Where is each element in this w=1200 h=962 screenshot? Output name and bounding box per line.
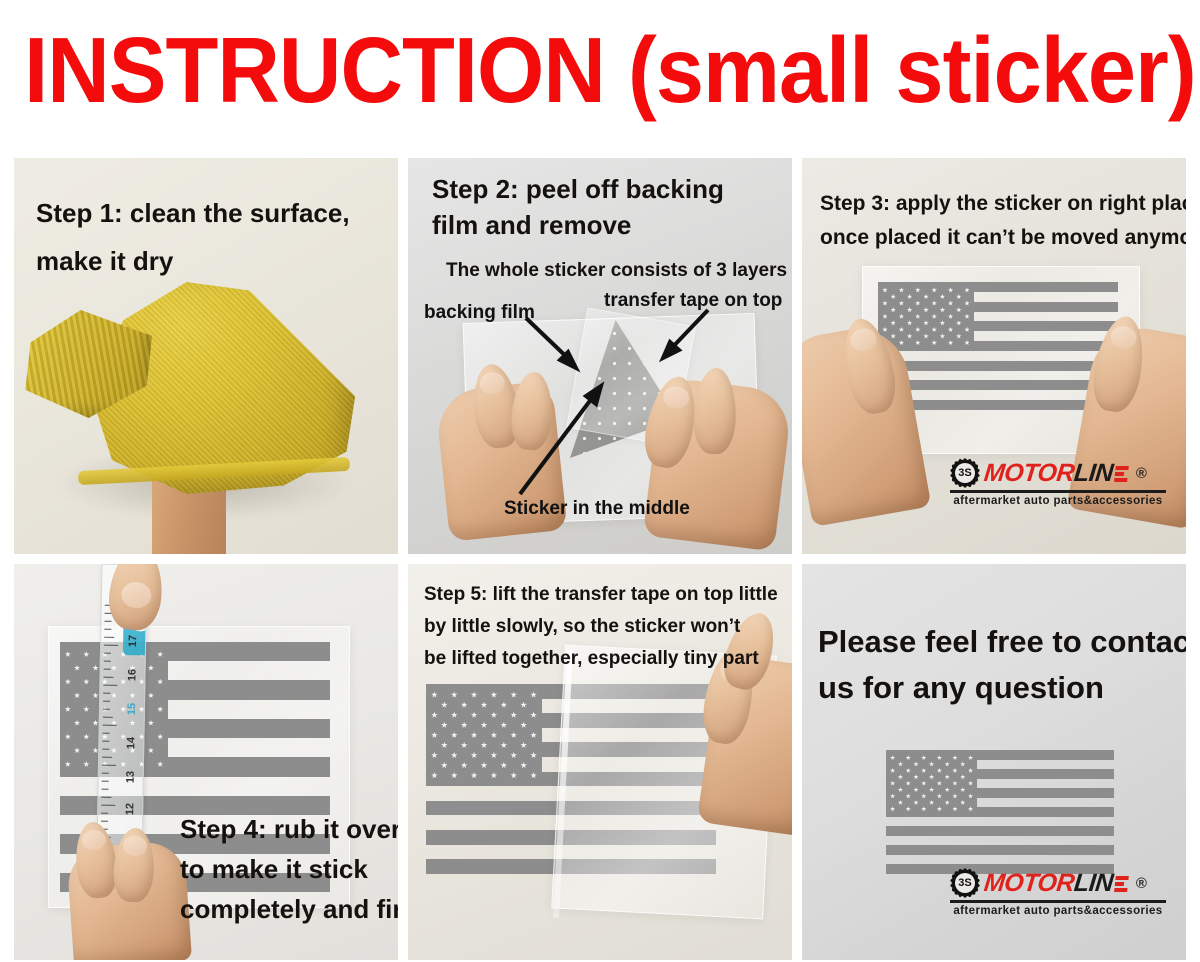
- ruler-number-16: 16: [126, 669, 138, 681]
- logo-e-bars-icon-contact: [1114, 875, 1129, 891]
- us-flag-sticker-step-3: [878, 282, 1118, 410]
- logo-wordmark-row-contact: 3S MOTOR LIN ®: [950, 868, 1166, 898]
- step-4-line-1: Step 4: rub it over: [180, 812, 398, 846]
- gear-icon-contact: 3S: [950, 868, 980, 898]
- step-1-line-1: Step 1: clean the surface,: [36, 196, 350, 230]
- top-hand-nail: [120, 581, 153, 610]
- registered-trademark-icon-contact: ®: [1136, 875, 1147, 892]
- flag-stars-contact: [886, 750, 977, 817]
- contact-line-2: us for any question: [818, 668, 1104, 709]
- us-flag-sticker-contact: [886, 750, 1114, 874]
- instruction-panel-grid: Step 1: clean the surface, make it dry S…: [14, 158, 1186, 960]
- panel-contact: Please feel free to contact us for any q…: [802, 564, 1186, 960]
- title-bar: INSTRUCTION (small sticker): [0, 0, 1200, 140]
- step-2-note: The whole sticker consists of 3 layers: [446, 260, 787, 282]
- flag-stars: [878, 282, 974, 351]
- step-5-line-3: be lifted together, especially tiny part: [424, 646, 759, 671]
- ruler-hand-nail-2: [122, 835, 147, 856]
- logo-e-bars-icon: [1114, 465, 1129, 481]
- flag-canton-step-5: [426, 684, 542, 786]
- page-title: INSTRUCTION (small sticker): [24, 24, 1196, 117]
- logo-wordmark-row: 3S MOTOR LIN ®: [950, 458, 1166, 488]
- gear-icon-label-contact: 3S: [955, 873, 975, 893]
- panel-step-1: Step 1: clean the surface, make it dry: [14, 158, 398, 554]
- gear-icon-label: 3S: [955, 463, 975, 483]
- step-2-line-1: Step 2: peel off backing: [432, 172, 724, 206]
- ruler-number-14: 14: [125, 737, 137, 749]
- panel-step-5: Step 5: lift the transfer tape on top li…: [408, 564, 792, 960]
- flag-canton: [878, 282, 974, 351]
- logo-wordmark-contact: MOTOR LIN: [982, 869, 1129, 898]
- step-3-line-1: Step 3: apply the sticker on right place…: [820, 190, 1186, 218]
- registered-trademark-icon: ®: [1136, 465, 1147, 482]
- towel-photo: [14, 276, 398, 554]
- step-5-line-1: Step 5: lift the transfer tape on top li…: [424, 582, 778, 607]
- step-4-line-3: completely and firmly: [180, 892, 398, 926]
- logo-tagline: aftermarket auto parts&accessories: [950, 495, 1166, 507]
- panel-step-4: 18 17 16 15 14 13 12 11 10 9 Step 4: rub…: [14, 564, 398, 960]
- logo-word-red: MOTOR: [982, 459, 1075, 488]
- logo-word-black: LIN: [1073, 459, 1115, 488]
- flag-stars-step-5: [426, 684, 542, 786]
- logo-divider-contact: [950, 900, 1166, 903]
- logo-word-red-contact: MOTOR: [982, 869, 1075, 898]
- panel-step-3: Step 3: apply the sticker on right place…: [802, 158, 1186, 554]
- step-2-line-2: film and remove: [432, 208, 631, 242]
- motorline-logo-contact: 3S MOTOR LIN ® aftermarket auto parts&ac…: [950, 868, 1166, 917]
- panel-step-2: Step 2: peel off backing film and remove…: [408, 158, 792, 554]
- logo-tagline-contact: aftermarket auto parts&accessories: [950, 905, 1166, 917]
- ruler-hand-nail-1: [81, 829, 107, 851]
- step-4-line-2: to make it stick: [180, 852, 368, 886]
- left-fingernail-step-3: [848, 326, 878, 353]
- left-fingernail: [478, 371, 506, 396]
- contact-line-1: Please feel free to contact: [818, 622, 1186, 663]
- logo-word-black-contact: LIN: [1073, 869, 1115, 898]
- callout-sticker-middle: Sticker in the middle: [504, 498, 690, 520]
- ruler-number-13: 13: [125, 771, 137, 783]
- ruler-number-15: 15: [126, 703, 138, 715]
- ruler-number-12: 12: [124, 803, 136, 815]
- logo-divider: [950, 490, 1166, 493]
- logo-wordmark: MOTOR LIN: [982, 459, 1129, 488]
- right-fingernail-step-3: [1109, 324, 1138, 350]
- callout-transfer-tape: transfer tape on top: [604, 290, 782, 312]
- callout-backing-film: backing film: [424, 302, 535, 324]
- step-3-line-2: once placed it can’t be moved anymore: [820, 224, 1186, 252]
- ruler-number-17: 17: [127, 635, 139, 647]
- motorline-logo-step-3: 3S MOTOR LIN ® aftermarket auto parts&ac…: [950, 458, 1166, 507]
- flag-canton-contact: [886, 750, 977, 817]
- right-fingernail: [661, 384, 691, 411]
- step-1-line-2: make it dry: [36, 244, 173, 278]
- gear-icon: 3S: [950, 458, 980, 488]
- step-5-line-2: by little slowly, so the sticker won’t: [424, 614, 740, 639]
